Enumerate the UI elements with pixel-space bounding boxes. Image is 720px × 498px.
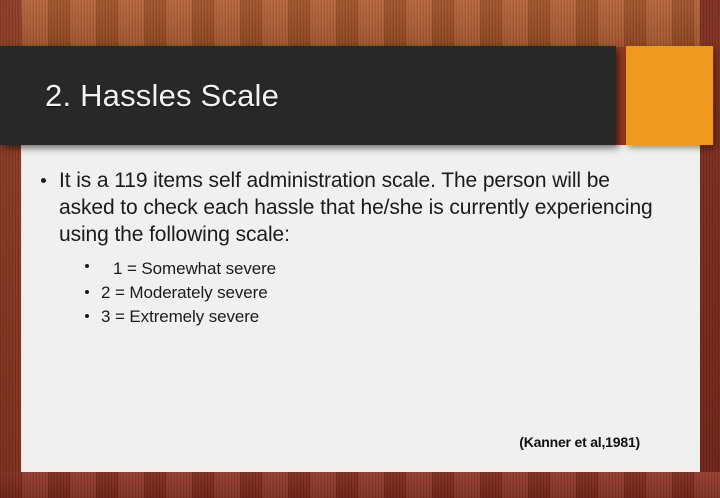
list-item: 2 = Moderately severe: [85, 281, 657, 305]
page-title: 2. Hassles Scale: [45, 78, 279, 114]
bullet-dot-icon: [85, 314, 89, 318]
decorative-wood-border-bottom: [0, 472, 720, 498]
accent-block-orange: [626, 46, 713, 145]
bullet-dot-icon: [41, 178, 46, 183]
content-panel: It is a 119 items self administration sc…: [21, 145, 700, 472]
title-bar: 2. Hassles Scale: [0, 46, 616, 145]
list-item-label: 2 = Moderately severe: [101, 283, 268, 302]
list-item-label: It is a 119 items self administration sc…: [59, 169, 653, 246]
list-item: 3 = Extremely severe: [85, 305, 657, 329]
list-item: It is a 119 items self administration sc…: [37, 167, 657, 248]
bullet-dot-icon: [85, 290, 89, 294]
sub-list: 1 = Somewhat severe 2 = Moderately sever…: [37, 257, 657, 329]
body-content: It is a 119 items self administration sc…: [37, 167, 657, 329]
bullet-dot-icon: [85, 264, 89, 268]
list-item-label: 1 = Somewhat severe: [101, 257, 657, 281]
list-item-label: 3 = Extremely severe: [101, 307, 259, 326]
slide: 2. Hassles Scale It is a 119 items self …: [0, 0, 720, 498]
citation-text: (Kanner et al,1981): [519, 434, 640, 450]
list-item: 1 = Somewhat severe: [85, 257, 657, 281]
decorative-wood-border-top: [0, 0, 720, 47]
